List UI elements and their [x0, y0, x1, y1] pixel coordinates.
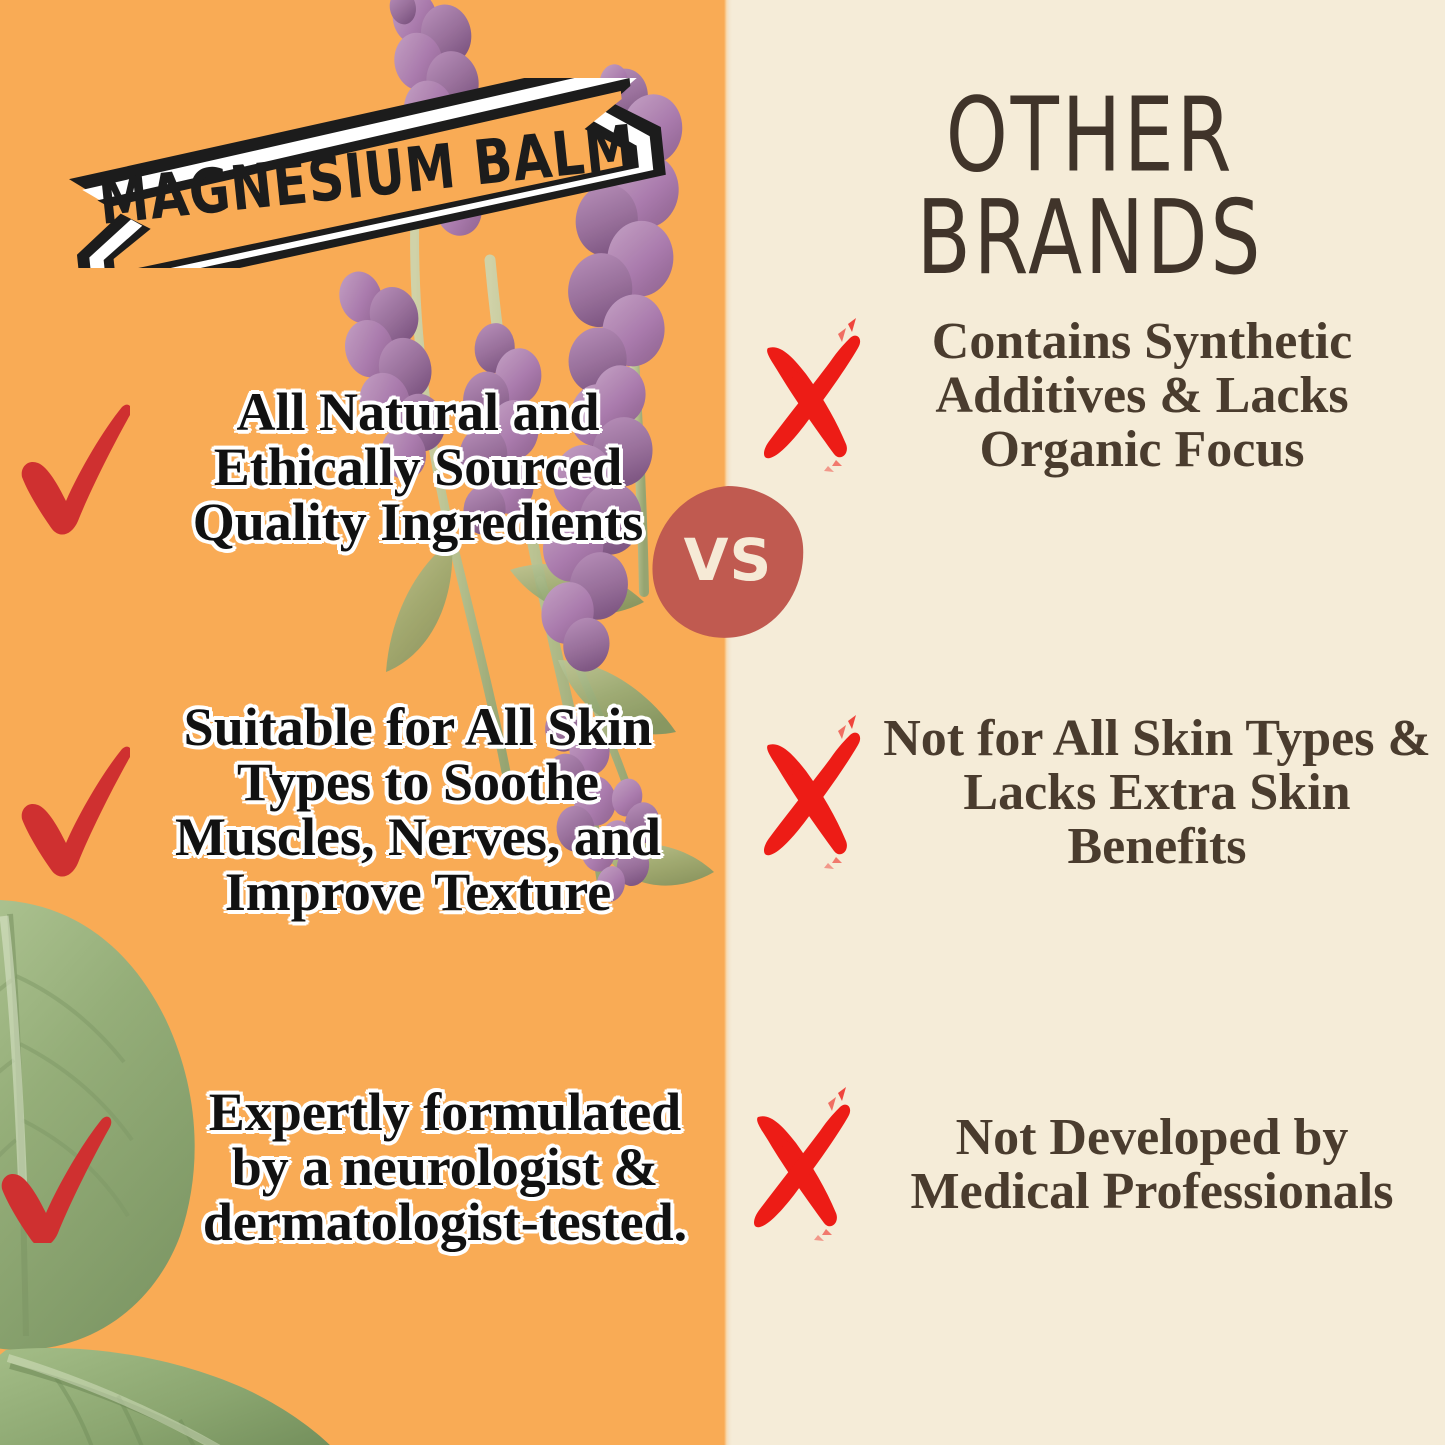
benefit-text: All Natural and Ethically Sourced Qualit…: [138, 385, 698, 550]
drawback-text: Not for All Skin Types & Lacks Extra Ski…: [872, 712, 1442, 874]
drawback-row: Not for All Skin Types & Lacks Extra Ski…: [752, 712, 1442, 874]
check-icon: [0, 735, 130, 885]
drawback-row: Contains Synthetic Additives & Lacks Org…: [752, 315, 1442, 477]
check-icon: [0, 393, 130, 543]
cross-icon: [752, 316, 872, 476]
benefit-text: Expertly formulated by a neurologist & d…: [200, 1085, 690, 1250]
panel-divider: [724, 0, 732, 1445]
benefit-row: Suitable for All Skin Types to Soothe Mu…: [0, 700, 700, 920]
benefit-text: Suitable for All Skin Types to Soothe Mu…: [136, 700, 700, 920]
vs-badge: VS: [650, 484, 806, 640]
benefit-row: Expertly formulated by a neurologist & d…: [0, 1085, 700, 1250]
other-brands-title: OTHER BRANDS: [780, 84, 1400, 289]
vs-label: VS: [650, 484, 806, 640]
check-icon: [0, 1093, 130, 1243]
magnesium-balm-banner: MAGNESIUM BALM: [62, 78, 672, 268]
drawback-row: Not Developed by Medical Professionals: [742, 1085, 1442, 1245]
cross-icon: [742, 1085, 862, 1245]
drawback-text: Not Developed by Medical Professionals: [862, 1111, 1442, 1219]
drawback-text: Contains Synthetic Additives & Lacks Org…: [872, 315, 1412, 477]
cross-icon: [752, 713, 872, 873]
comparison-infographic: MAGNESIUM BALM OTHER BRANDS All Natural …: [0, 0, 1445, 1445]
benefit-row: All Natural and Ethically Sourced Qualit…: [0, 385, 700, 550]
